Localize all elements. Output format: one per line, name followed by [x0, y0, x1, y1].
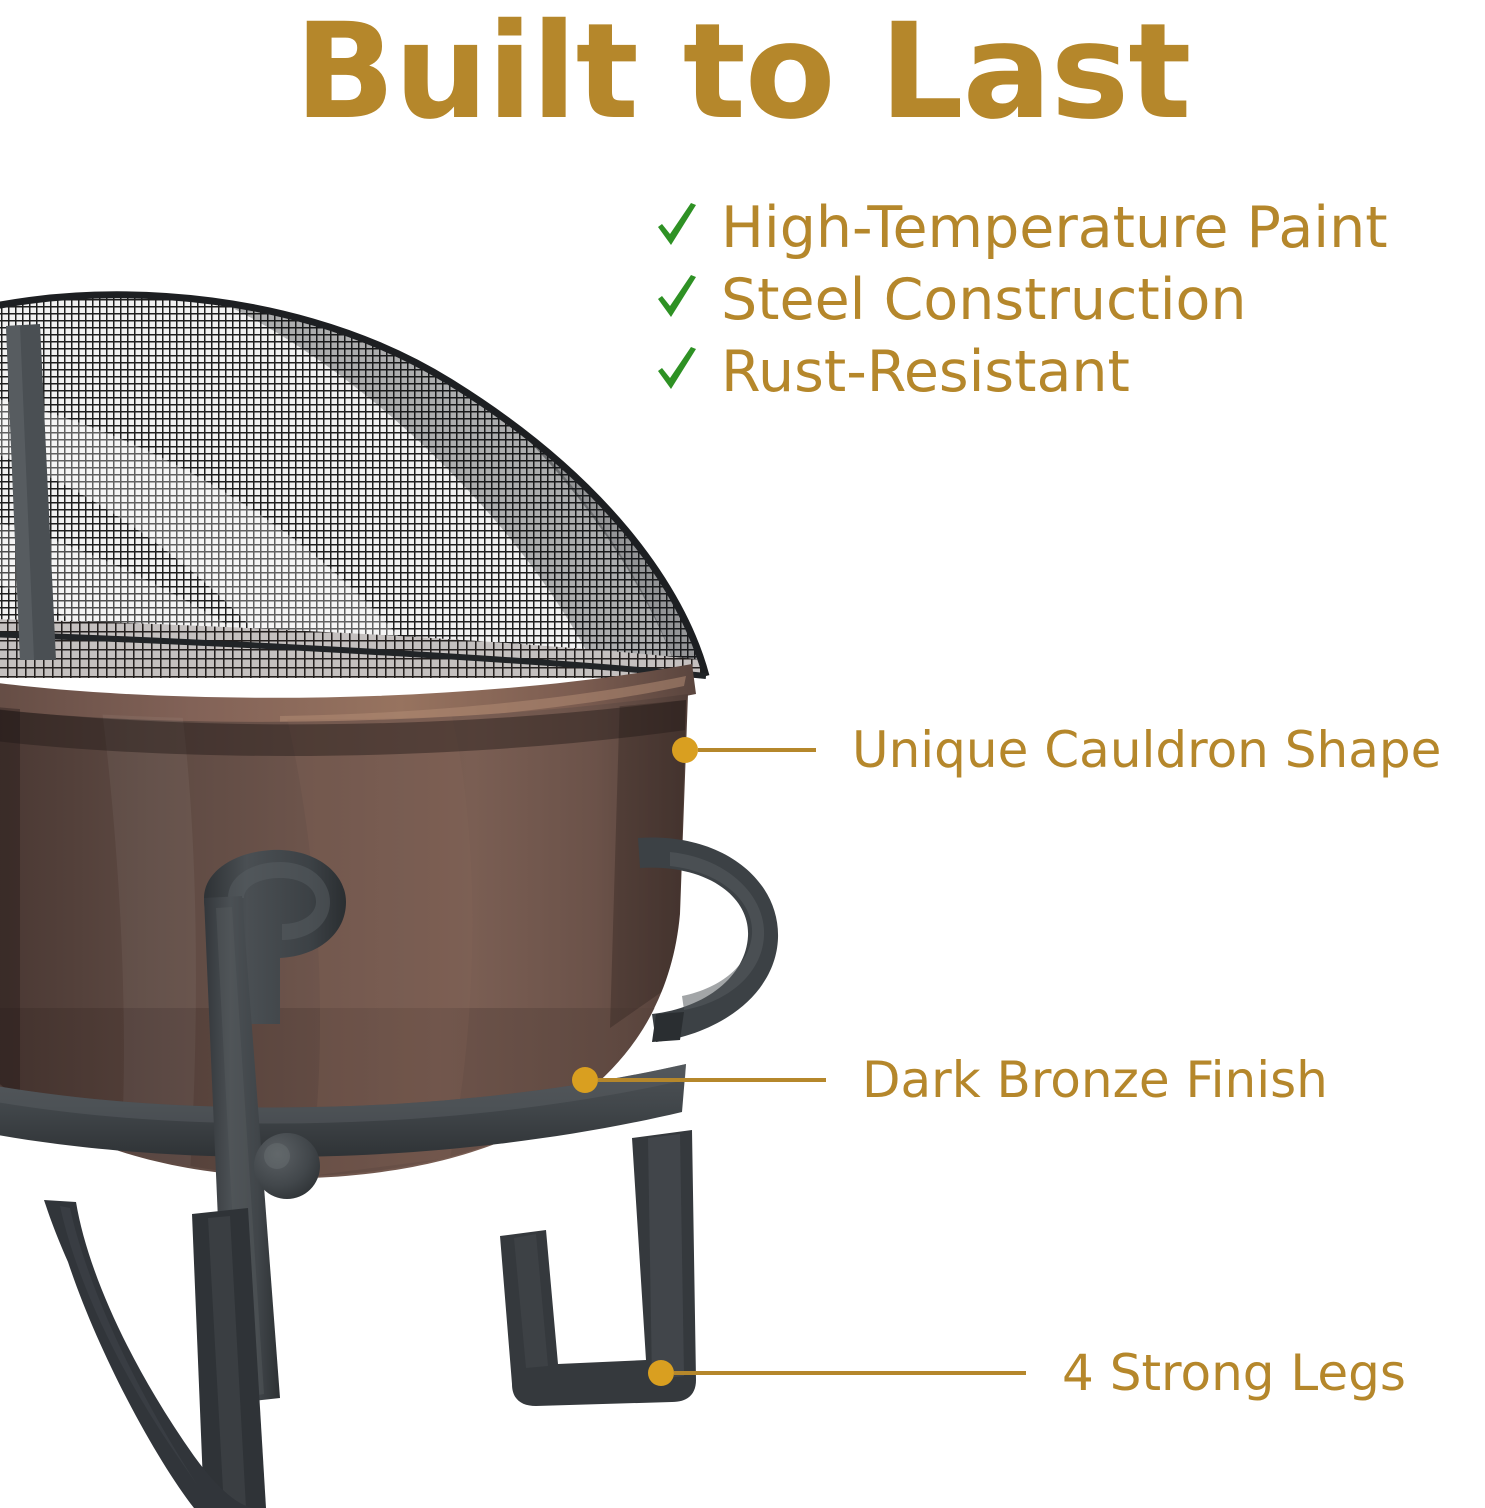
- feature-label: Steel Construction: [721, 266, 1247, 334]
- callout-leader-line: [698, 748, 816, 752]
- callout-label: Dark Bronze Finish: [862, 1052, 1328, 1108]
- callout-label: Unique Cauldron Shape: [852, 722, 1441, 778]
- feature-label: High-Temperature Paint: [721, 194, 1388, 262]
- callout-dot-icon: [572, 1067, 598, 1093]
- dome-lift-handle: [0, 425, 168, 540]
- check-icon: [655, 201, 699, 253]
- feature-item: High-Temperature Paint: [655, 194, 1485, 262]
- check-icon: [655, 273, 699, 325]
- rivet: [254, 1133, 320, 1199]
- feature-list: High-Temperature Paint Steel Constructio…: [655, 194, 1485, 410]
- feature-label: Rust-Resistant: [721, 338, 1130, 406]
- callout-leader-line: [674, 1371, 1026, 1375]
- callout-unique-cauldron-shape: Unique Cauldron Shape: [672, 722, 1441, 778]
- dome-support-strap: [6, 324, 56, 660]
- callout-dark-bronze-finish: Dark Bronze Finish: [572, 1052, 1328, 1108]
- callout-4-strong-legs: 4 Strong Legs: [648, 1345, 1406, 1401]
- bowl-side-handle: [638, 837, 778, 1042]
- callout-label: 4 Strong Legs: [1062, 1345, 1406, 1401]
- callout-leader-line: [598, 1078, 826, 1082]
- infographic-stage: Built to Last High-Temperature Paint Ste…: [0, 0, 1485, 1500]
- page-title: Built to Last: [0, 6, 1485, 138]
- feature-item: Rust-Resistant: [655, 338, 1485, 406]
- callout-dot-icon: [648, 1360, 674, 1386]
- legs: [44, 1130, 696, 1508]
- steel-strap: [204, 850, 346, 1404]
- callout-dot-icon: [672, 737, 698, 763]
- check-icon: [655, 345, 699, 397]
- feature-item: Steel Construction: [655, 266, 1485, 334]
